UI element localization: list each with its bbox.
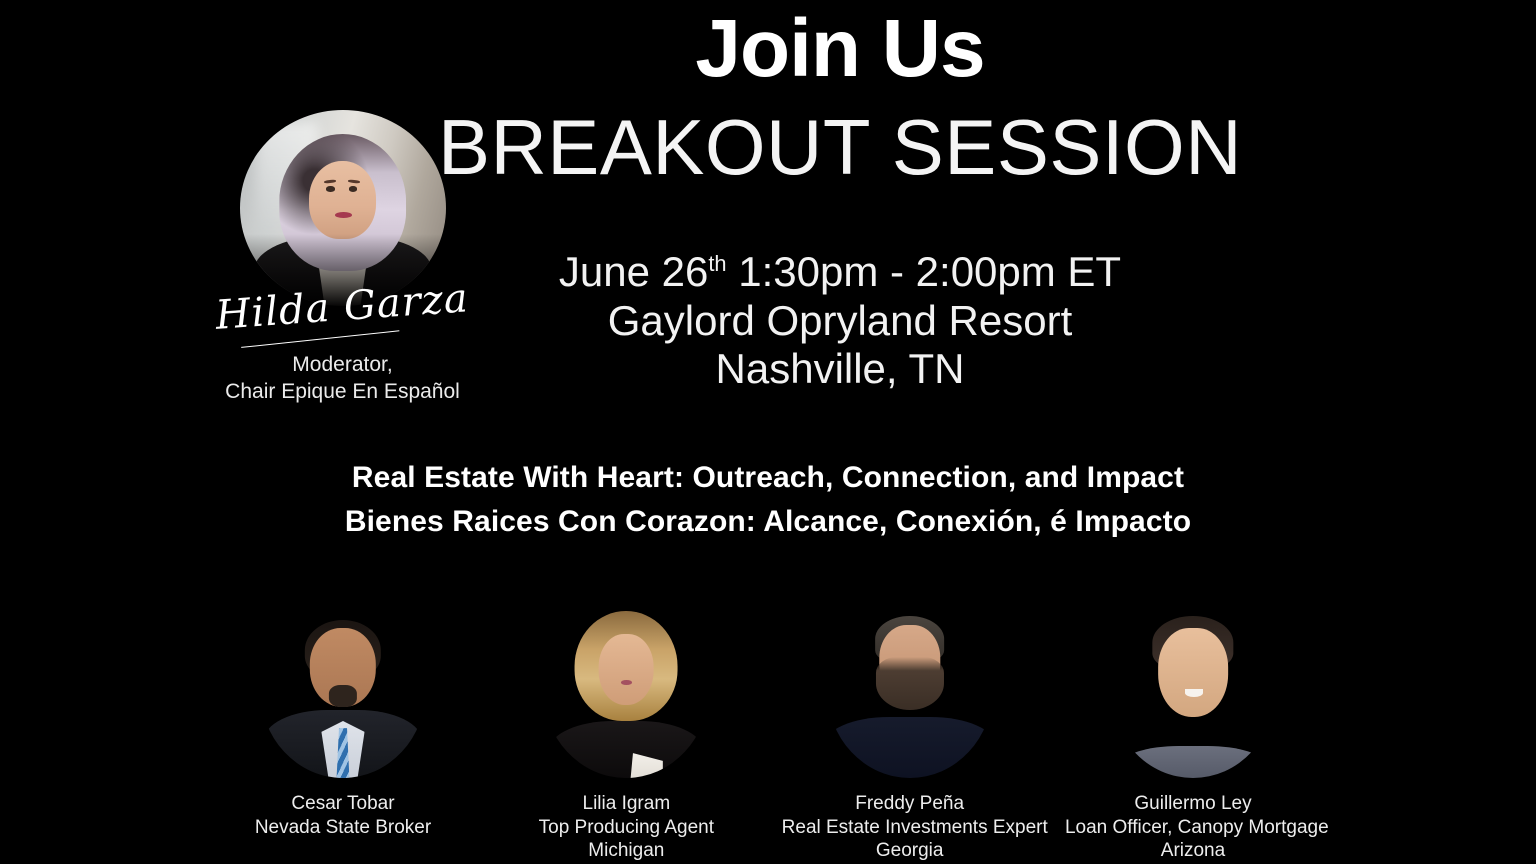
speaker-role: Real Estate Investments Expert	[782, 816, 1038, 840]
speaker-card: Lilia Igram Top Producing Agent Michigan	[498, 600, 754, 863]
speaker-jacket	[550, 721, 703, 778]
speaker-location: Georgia	[782, 839, 1038, 863]
speaker-card: Freddy Peña Real Estate Investments Expe…	[782, 600, 1038, 863]
event-flyer: Join Us BREAKOUT SESSION June 26th 1:30p…	[0, 0, 1536, 864]
speaker-location: Arizona	[1065, 839, 1321, 863]
speaker-card: Guillermo Ley Loan Officer, Canopy Mortg…	[1065, 600, 1321, 863]
moderator-eye-right	[349, 186, 358, 191]
date-ordinal-suffix: th	[708, 251, 726, 276]
breakout-session-heading: BREAKOUT SESSION	[400, 104, 1280, 191]
moderator-eye-left	[326, 186, 335, 191]
moderator-lips	[335, 212, 351, 218]
moderator-portrait	[240, 110, 446, 306]
moderator-face	[309, 161, 377, 239]
speaker-card: Cesar Tobar Nevada State Broker	[215, 600, 471, 839]
speaker-face	[1158, 628, 1228, 717]
event-time-range: 1:30pm - 2:00pm ET	[727, 248, 1122, 295]
speaker-name: Lilia Igram	[498, 792, 754, 816]
headline-block: Join Us BREAKOUT SESSION	[400, 8, 1280, 191]
event-venue: Gaylord Opryland Resort	[430, 299, 1250, 344]
speaker-lips	[621, 680, 633, 685]
speaker-name: Guillermo Ley	[1065, 792, 1321, 816]
moderator-role-line-1: Moderator,	[190, 352, 495, 379]
speaker-beard	[876, 657, 944, 710]
join-us-heading: Join Us	[400, 8, 1280, 90]
speaker-avatar-cesar-tobar	[260, 600, 426, 778]
speaker-role: Nevada State Broker	[215, 816, 471, 840]
session-titles: Real Estate With Heart: Outreach, Connec…	[168, 456, 1368, 544]
moderator-role: Moderator, Chair Epique En Español	[190, 352, 495, 406]
event-city-state: Nashville, TN	[430, 347, 1250, 392]
event-details: June 26th 1:30pm - 2:00pm ET Gaylord Opr…	[430, 250, 1250, 396]
speaker-role: Loan Officer, Canopy Mortgage	[1065, 816, 1321, 840]
event-datetime-line: June 26th 1:30pm - 2:00pm ET	[430, 250, 1250, 295]
speaker-name: Cesar Tobar	[215, 792, 471, 816]
speaker-caption: Freddy Peña Real Estate Investments Expe…	[782, 792, 1038, 863]
speaker-smile	[1185, 689, 1203, 697]
speaker-goatee	[329, 685, 357, 706]
speaker-caption: Guillermo Ley Loan Officer, Canopy Mortg…	[1065, 792, 1321, 863]
speaker-face	[599, 634, 654, 705]
speaker-avatar-lilia-igram	[543, 600, 709, 778]
moderator-block: Hilda Garza Moderator, Chair Epique En E…	[190, 110, 495, 406]
speaker-location: Michigan	[498, 839, 754, 863]
speaker-name: Freddy Peña	[782, 792, 1038, 816]
moderator-signature: Hilda Garza	[188, 273, 496, 352]
event-date: June 26	[559, 248, 708, 295]
moderator-avatar	[240, 110, 446, 306]
session-title-spanish: Bienes Raices Con Corazon: Alcance, Cone…	[168, 500, 1368, 544]
speaker-shirt	[1122, 746, 1265, 778]
moderator-role-line-2: Chair Epique En Español	[190, 379, 495, 406]
speaker-role: Top Producing Agent	[498, 816, 754, 840]
speaker-caption: Lilia Igram Top Producing Agent Michigan	[498, 792, 754, 863]
speakers-row: Cesar Tobar Nevada State Broker Lilia Ig…	[215, 600, 1321, 863]
speaker-avatar-guillermo-ley	[1110, 600, 1276, 778]
speaker-caption: Cesar Tobar Nevada State Broker	[215, 792, 471, 839]
session-title-english: Real Estate With Heart: Outreach, Connec…	[168, 456, 1368, 500]
speaker-avatar-freddy-pena	[827, 600, 993, 778]
moderator-photo-wrap	[240, 110, 446, 306]
speaker-tshirt	[827, 717, 993, 778]
